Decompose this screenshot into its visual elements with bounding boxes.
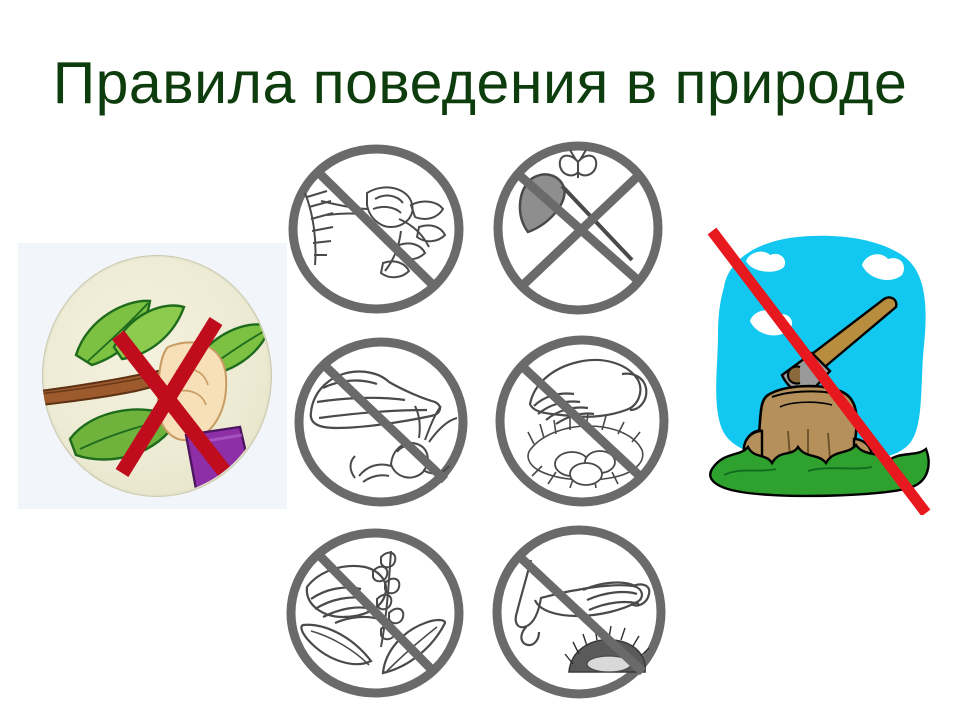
hand-picking-lily-icon (285, 527, 465, 699)
axe-stump-artwork (688, 225, 950, 515)
sign-no-picking-flowers[interactable] (285, 527, 465, 699)
right-illustration-do-not-cut-trees (688, 225, 950, 515)
hand-breaking-branch-icon (287, 143, 465, 315)
sign-no-touching-nests[interactable] (494, 334, 670, 508)
sign-no-touching-hedgehogs[interactable] (491, 524, 667, 700)
page-title: Правила поведения в природе (0, 52, 960, 114)
slide-canvas: Правила поведения в природе (0, 0, 960, 720)
boot-and-frog-icon (293, 336, 469, 508)
branch-breaking-artwork (18, 243, 287, 509)
hand-and-nest-icon (494, 334, 670, 508)
hand-and-hedgehog-icon (491, 524, 667, 700)
butterfly-net-icon (492, 140, 664, 316)
sign-no-stepping-on-frogs[interactable] (293, 336, 469, 508)
left-illustration-do-not-break-branches (18, 243, 287, 509)
sign-no-catching-butterflies[interactable] (492, 140, 664, 316)
sign-no-breaking-branches[interactable] (287, 143, 465, 315)
